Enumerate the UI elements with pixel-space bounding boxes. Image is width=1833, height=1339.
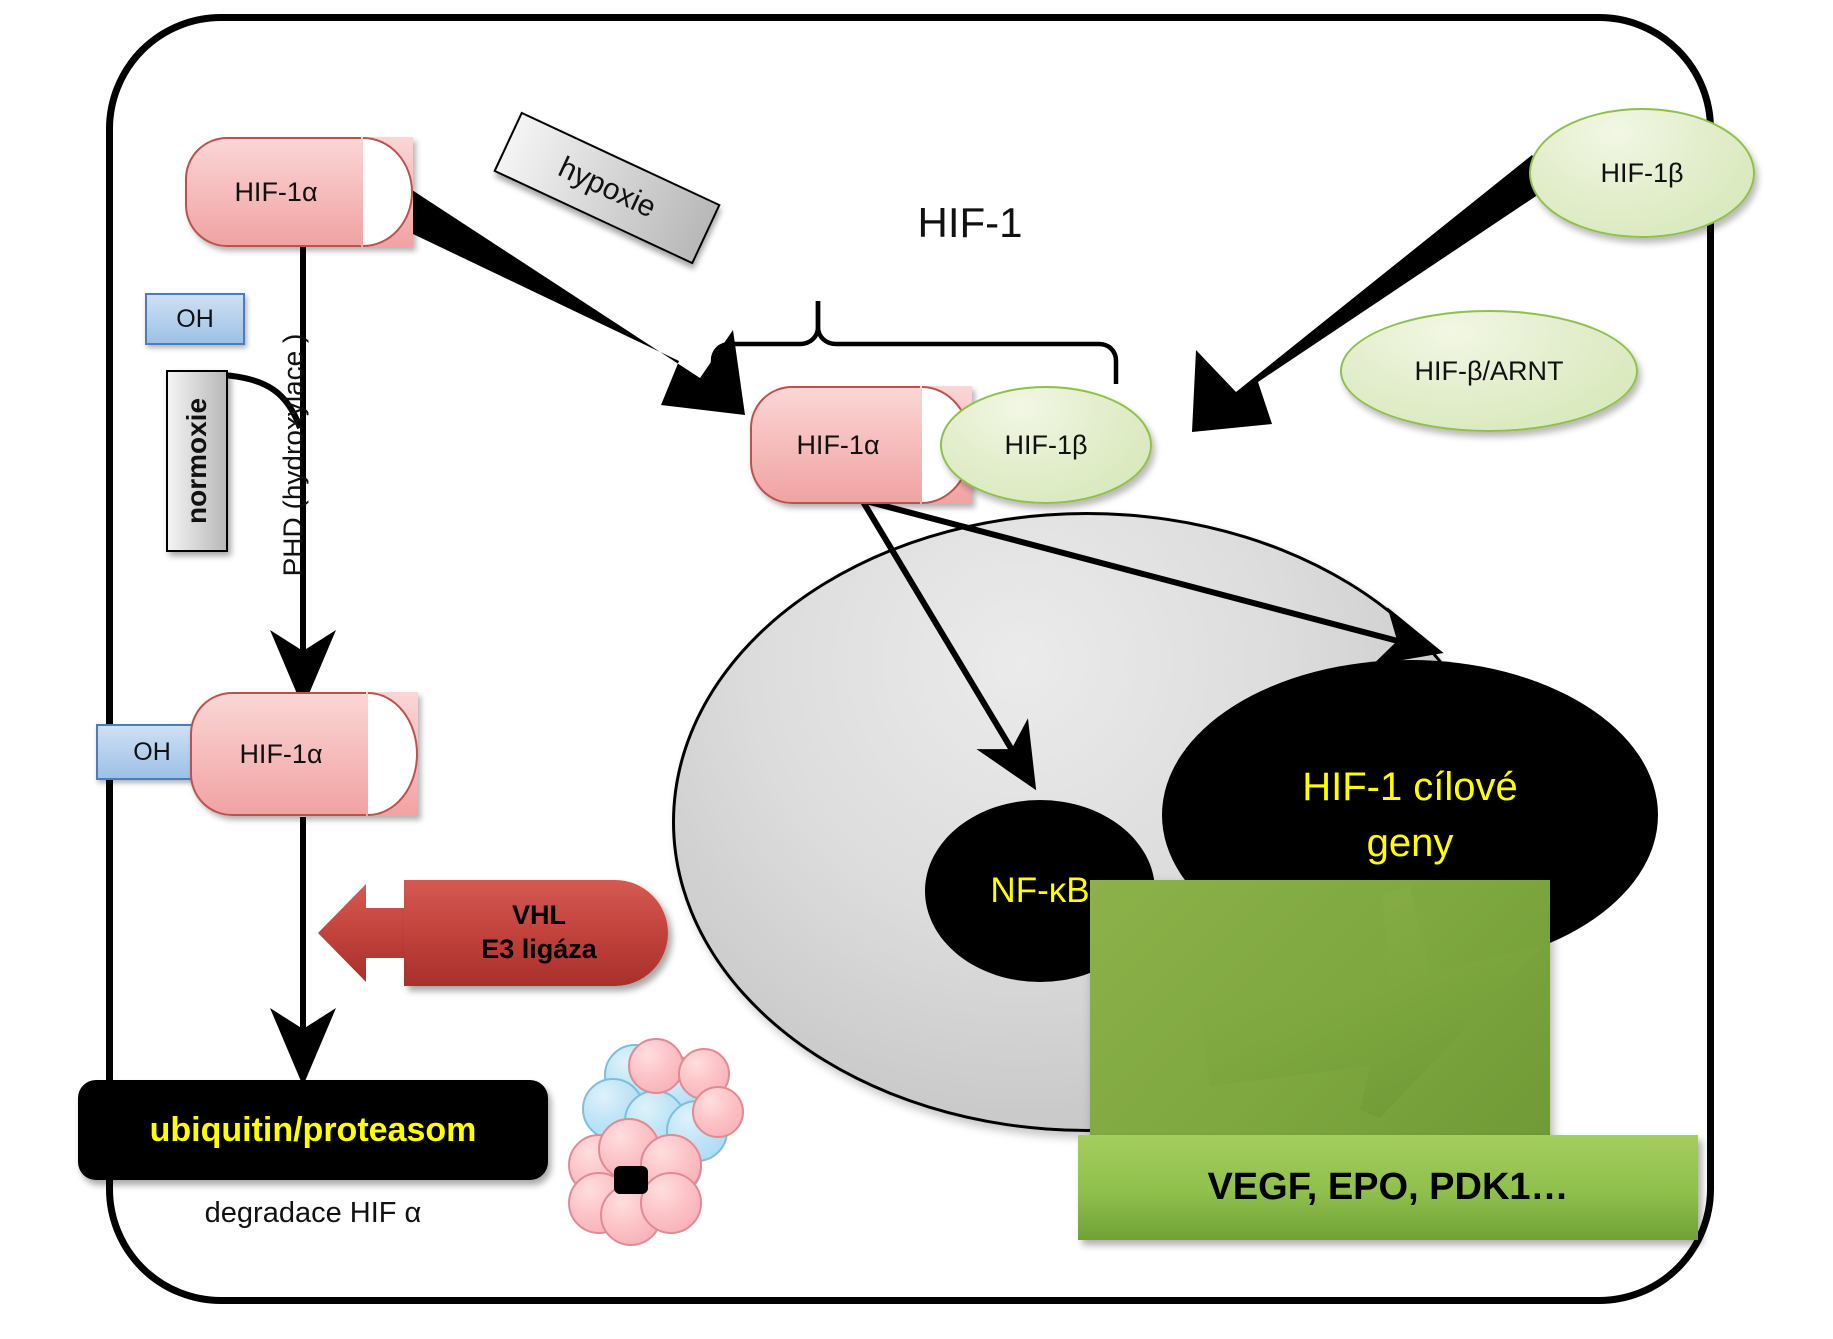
ubiquitin-proteasome-box[interactable]: ubiquitin/proteasom [78, 1080, 548, 1180]
vhl-label-group: VHL E3 ligáza [414, 880, 664, 986]
hif1beta-dimer[interactable]: HIF-1β [940, 386, 1152, 504]
hif1alpha-hydroxylated-label: HIF-1α [192, 694, 370, 814]
output-genes-label: VEGF, EPO, PDK1… [1207, 1166, 1568, 1209]
nfkb-label: NF-κB [990, 871, 1089, 911]
hif1alpha-dimer-label: HIF-1α [752, 388, 924, 502]
proteasome-cluster-icon [568, 1038, 758, 1238]
hif1alpha-hydroxylated[interactable]: HIF-1α [190, 692, 418, 816]
vhl-label-line2: E3 ligáza [481, 933, 597, 967]
oh-label-bottom: OH [133, 738, 171, 767]
degradace-label: degradace HIF α [205, 1197, 422, 1230]
target-genes-label-line1: HIF-1 cílové [1302, 759, 1518, 815]
diagram-canvas: HIF-1α hypoxie OH normoxie PHD (hydroxyl… [0, 0, 1833, 1339]
hif1-brace-label: HIF-1 [918, 199, 1023, 247]
hif1beta-dimer-label: HIF-1β [1004, 430, 1087, 461]
hif1-brace-label-wrap: HIF-1 [860, 195, 1080, 251]
vhl-e3-ligase-arrow[interactable]: VHL E3 ligáza [318, 880, 678, 986]
ubiquitin-proteasome-label: ubiquitin/proteasom [150, 1111, 477, 1150]
hif1beta-free-label: HIF-1β [1600, 158, 1683, 189]
phd-label-wrap: PHD (hydroxylace ) [270, 330, 316, 580]
degradace-label-wrap: degradace HIF α [148, 1192, 478, 1234]
oh-label-top: OH [176, 305, 214, 334]
proteasome-pore [614, 1166, 648, 1194]
hif1alpha-cytoplasmic-label: HIF-1α [187, 139, 365, 245]
hif1beta-free[interactable]: HIF-1β [1529, 108, 1755, 238]
target-genes-label-line2: geny [1367, 815, 1454, 871]
normoxie-label: normoxie [181, 398, 213, 524]
hif1alpha-dimer[interactable]: HIF-1α [750, 386, 972, 504]
oh-box-top[interactable]: OH [145, 293, 245, 345]
hifbeta-arnt-label: HIF-β/ARNT [1414, 356, 1563, 387]
vhl-label-line1: VHL [512, 899, 566, 933]
phd-label: PHD (hydroxylace ) [277, 334, 309, 577]
hif1alpha-cytoplasmic[interactable]: HIF-1α [185, 137, 413, 247]
hifbeta-arnt[interactable]: HIF-β/ARNT [1340, 310, 1638, 432]
output-genes-bar[interactable]: VEGF, EPO, PDK1… [1078, 1135, 1698, 1240]
normoxie-label-box: normoxie [166, 370, 228, 552]
green-block-arrow-icon [1090, 880, 1550, 1140]
